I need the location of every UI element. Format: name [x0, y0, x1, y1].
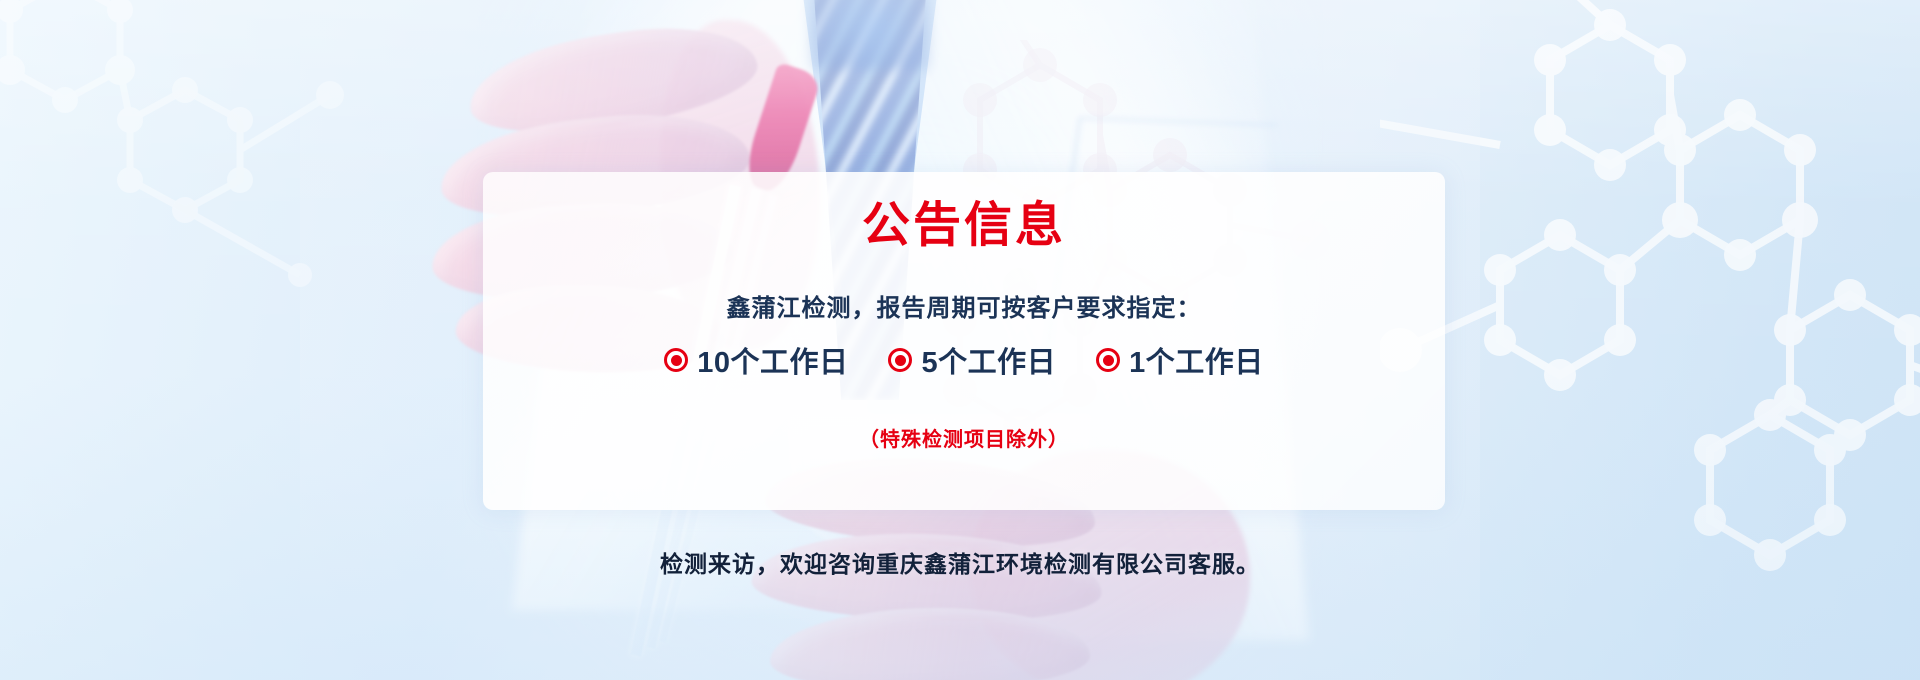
card-note: （特殊检测项目除外）: [859, 423, 1069, 452]
page-title: 公告信息: [862, 196, 1066, 256]
option-label: 10个工作日: [697, 339, 848, 381]
option-10-working-days[interactable]: 10个工作日: [664, 339, 848, 381]
announcement-banner: 公告信息 鑫蒲江检测，报告周期可按客户要求指定： 10个工作日 5个工作日 1个…: [0, 0, 1920, 680]
radio-selected-icon[interactable]: [1096, 348, 1120, 372]
announcement-card: 公告信息 鑫蒲江检测，报告周期可按客户要求指定： 10个工作日 5个工作日 1个…: [483, 172, 1445, 510]
footer-caption: 检测来访，欢迎咨询重庆鑫蒲江环境检测有限公司客服。: [0, 545, 1920, 579]
card-subtitle: 鑫蒲江检测，报告周期可按客户要求指定：: [727, 288, 1202, 323]
radio-selected-icon[interactable]: [664, 348, 688, 372]
turnaround-options: 10个工作日 5个工作日 1个工作日: [664, 339, 1264, 381]
option-label: 5个工作日: [921, 339, 1056, 381]
radio-selected-icon[interactable]: [888, 348, 912, 372]
option-1-working-day[interactable]: 1个工作日: [1096, 339, 1264, 381]
option-5-working-days[interactable]: 5个工作日: [888, 339, 1056, 381]
option-label: 1个工作日: [1129, 339, 1264, 381]
